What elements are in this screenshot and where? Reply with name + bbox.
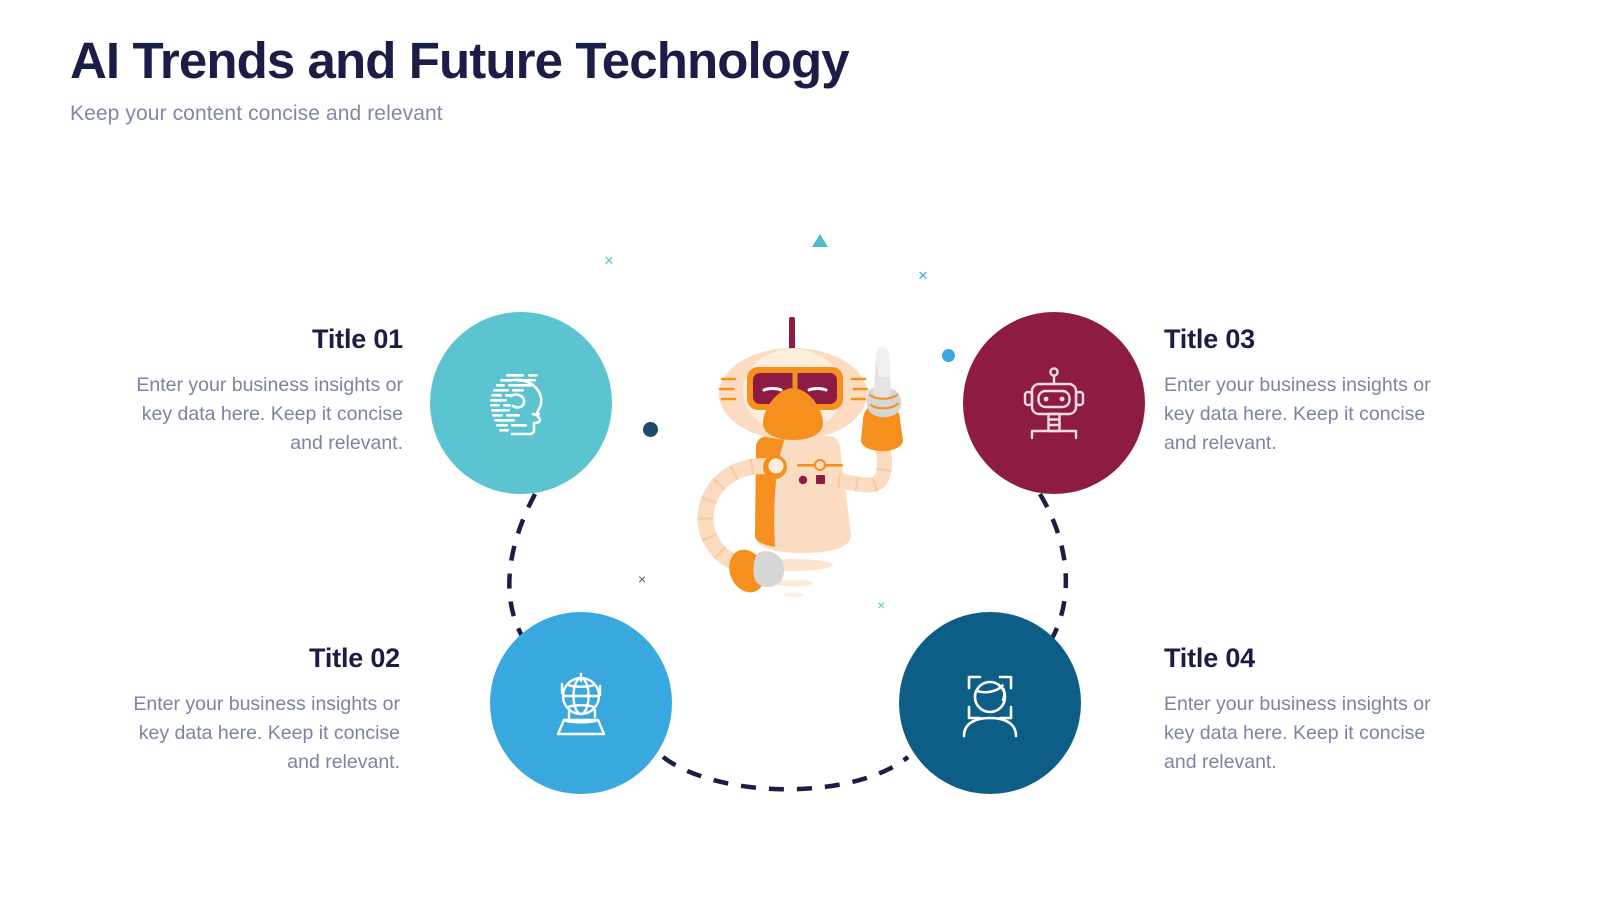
ai-robot-mascot-illustration bbox=[660, 295, 920, 600]
node-title-2: Title 02 bbox=[125, 644, 400, 674]
node-text-block-3: Title 03 Enter your business insights or… bbox=[1164, 325, 1439, 458]
node-body-4: Enter your business insights or key data… bbox=[1164, 690, 1439, 778]
node-body-1: Enter your business insights or key data… bbox=[128, 371, 403, 459]
sidebar-item-node-3[interactable] bbox=[963, 312, 1145, 494]
cross-accent-teal-left: × bbox=[604, 252, 614, 269]
cross-accent-teal-lower: × bbox=[877, 598, 885, 612]
robot-head-icon bbox=[1011, 360, 1097, 446]
sidebar-item-node-4[interactable] bbox=[899, 612, 1081, 794]
sidebar-item-node-2[interactable] bbox=[490, 612, 672, 794]
node-title-3: Title 03 bbox=[1164, 325, 1439, 355]
node-title-1: Title 01 bbox=[128, 325, 403, 355]
node-text-block-4: Title 04 Enter your business insights or… bbox=[1164, 644, 1439, 777]
node-text-block-1: Title 01 Enter your business insights or… bbox=[128, 325, 403, 458]
node-body-3: Enter your business insights or key data… bbox=[1164, 371, 1439, 459]
sidebar-item-node-1[interactable] bbox=[430, 312, 612, 494]
dot-accent-navy bbox=[643, 422, 658, 437]
globe-hologram-projector-icon bbox=[538, 660, 624, 746]
node-body-2: Enter your business insights or key data… bbox=[125, 690, 400, 778]
node-title-4: Title 04 bbox=[1164, 644, 1439, 674]
infographic-diagram: × × × × bbox=[0, 0, 1600, 900]
triangle-accent-teal-top bbox=[812, 234, 828, 247]
head-profile-data-icon bbox=[478, 360, 564, 446]
slide-canvas: AI Trends and Future Technology Keep you… bbox=[0, 0, 1600, 900]
cross-accent-blue-right: × bbox=[918, 267, 928, 284]
cross-accent-slate-lower: × bbox=[638, 572, 646, 586]
face-recognition-icon bbox=[947, 660, 1033, 746]
node-text-block-2: Title 02 Enter your business insights or… bbox=[125, 644, 400, 777]
dot-accent-blue bbox=[942, 349, 955, 362]
